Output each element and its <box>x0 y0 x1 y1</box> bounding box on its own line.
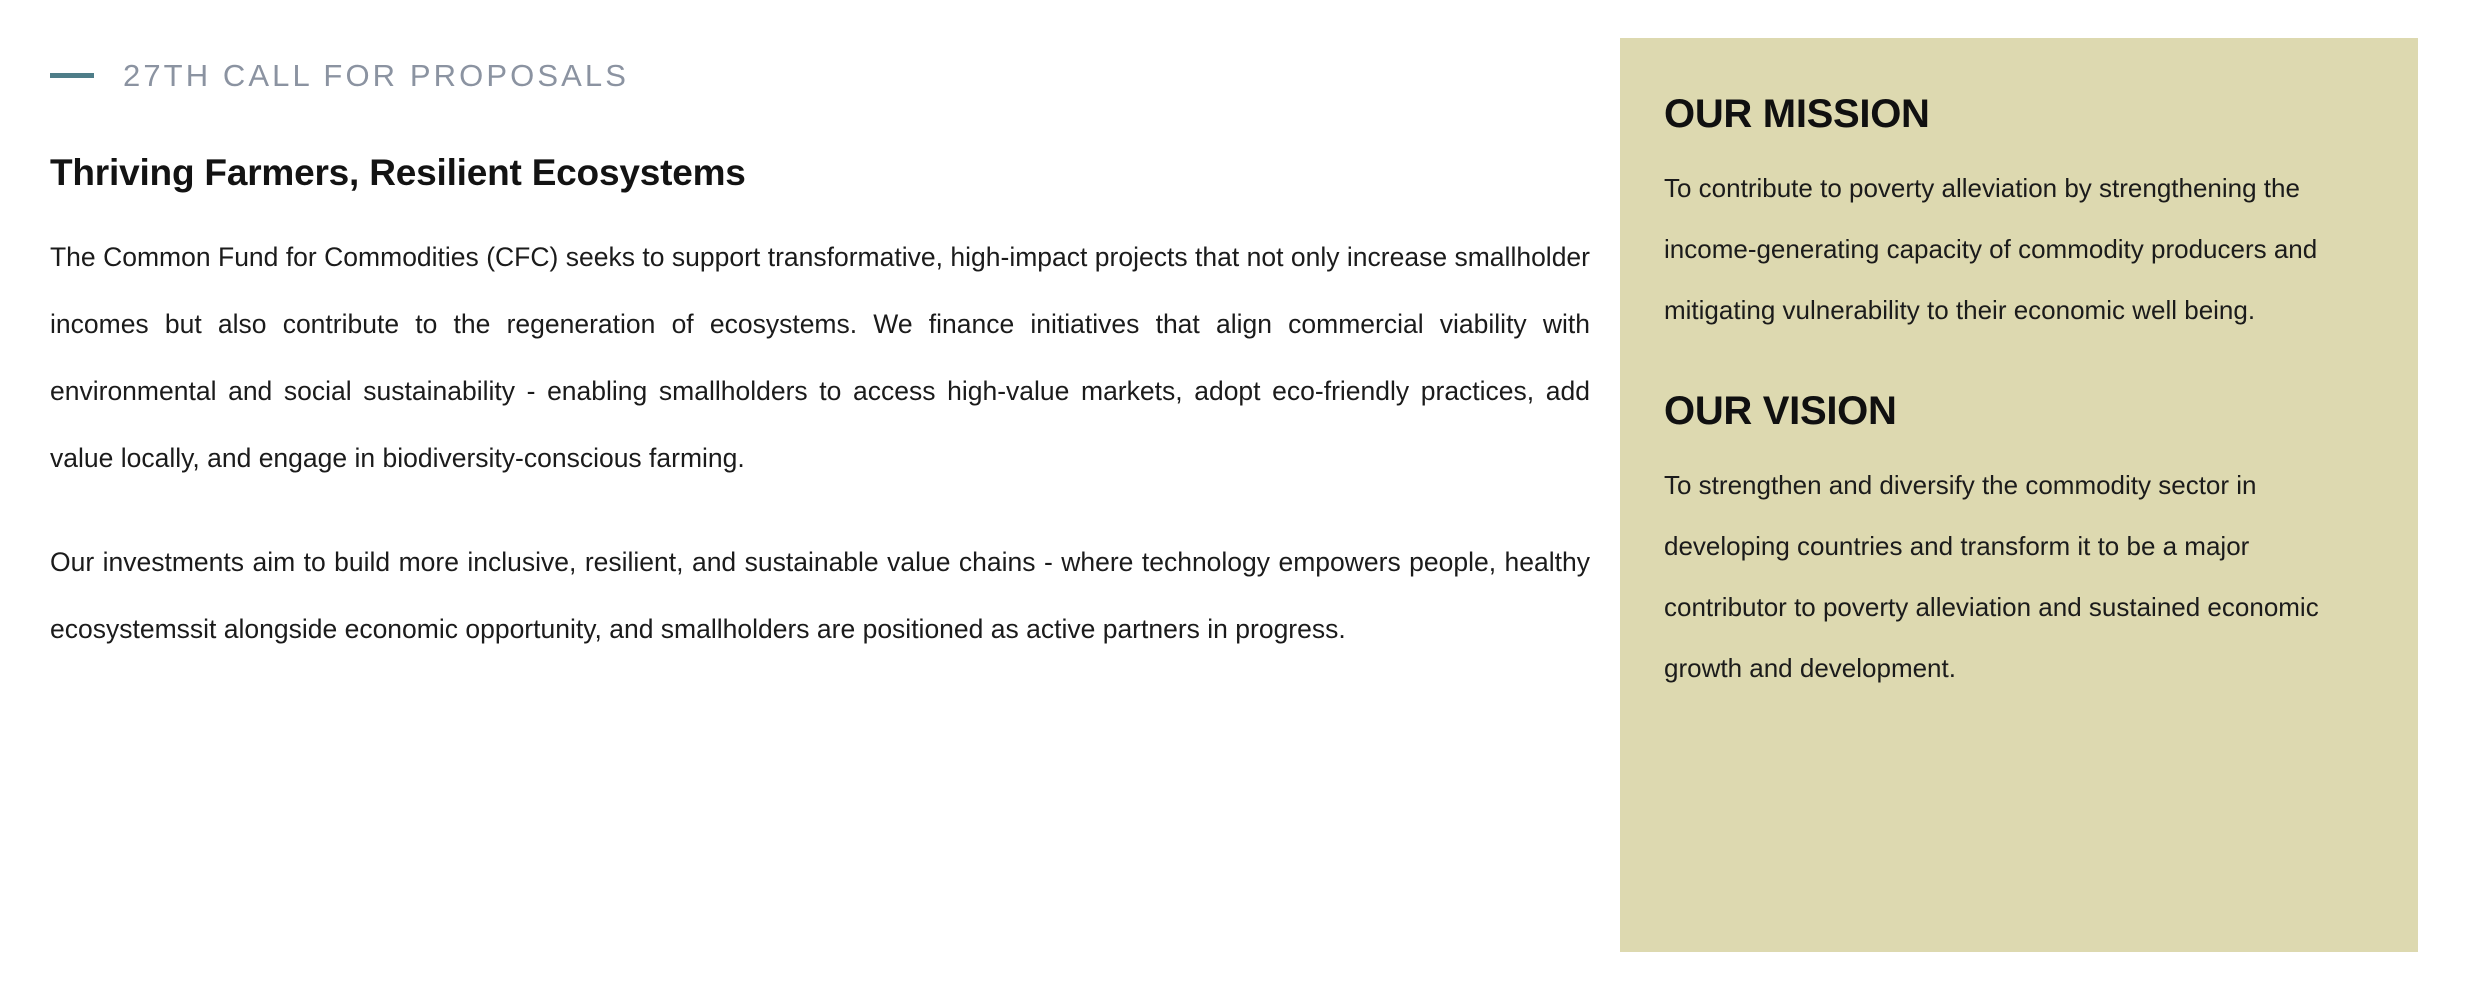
eyebrow-label: 27TH CALL FOR PROPOSALS <box>123 60 629 91</box>
our-mission-heading: OUR MISSION <box>1664 92 2374 136</box>
page-title: Thriving Farmers, Resilient Ecosystems <box>50 152 1590 195</box>
page-root: 27TH CALL FOR PROPOSALS Thriving Farmers… <box>0 0 2465 983</box>
mission-vision-panel: OUR MISSION To contribute to poverty all… <box>1620 38 2418 952</box>
eyebrow-heading: 27TH CALL FOR PROPOSALS <box>50 58 1590 92</box>
our-vision-heading: OUR VISION <box>1664 389 2374 433</box>
our-vision-body: To strengthen and diversify the commodit… <box>1664 455 2374 699</box>
body-paragraph-2: Our investments aim to build more inclus… <box>50 529 1590 663</box>
our-mission-body: To contribute to poverty alleviation by … <box>1664 158 2374 341</box>
body-paragraph-1: The Common Fund for Commodities (CFC) se… <box>50 224 1590 492</box>
main-content-column: 27TH CALL FOR PROPOSALS Thriving Farmers… <box>50 0 1590 983</box>
horizontal-dash-icon <box>50 73 94 78</box>
